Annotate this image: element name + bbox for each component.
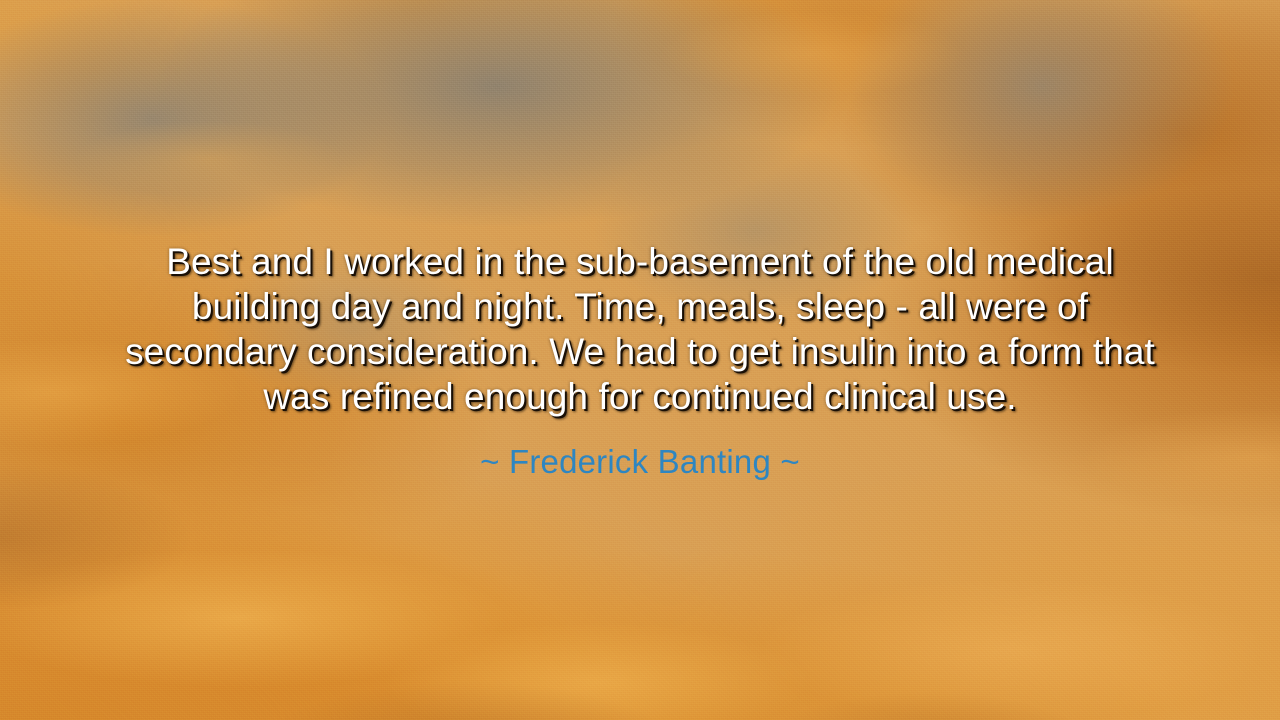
quote-content: Best and I worked in the sub-basement of… xyxy=(0,0,1280,720)
quote-attribution: ~ Frederick Banting ~ xyxy=(480,419,800,482)
quote-image: Best and I worked in the sub-basement of… xyxy=(0,0,1280,720)
quote-text: Best and I worked in the sub-basement of… xyxy=(105,239,1175,419)
